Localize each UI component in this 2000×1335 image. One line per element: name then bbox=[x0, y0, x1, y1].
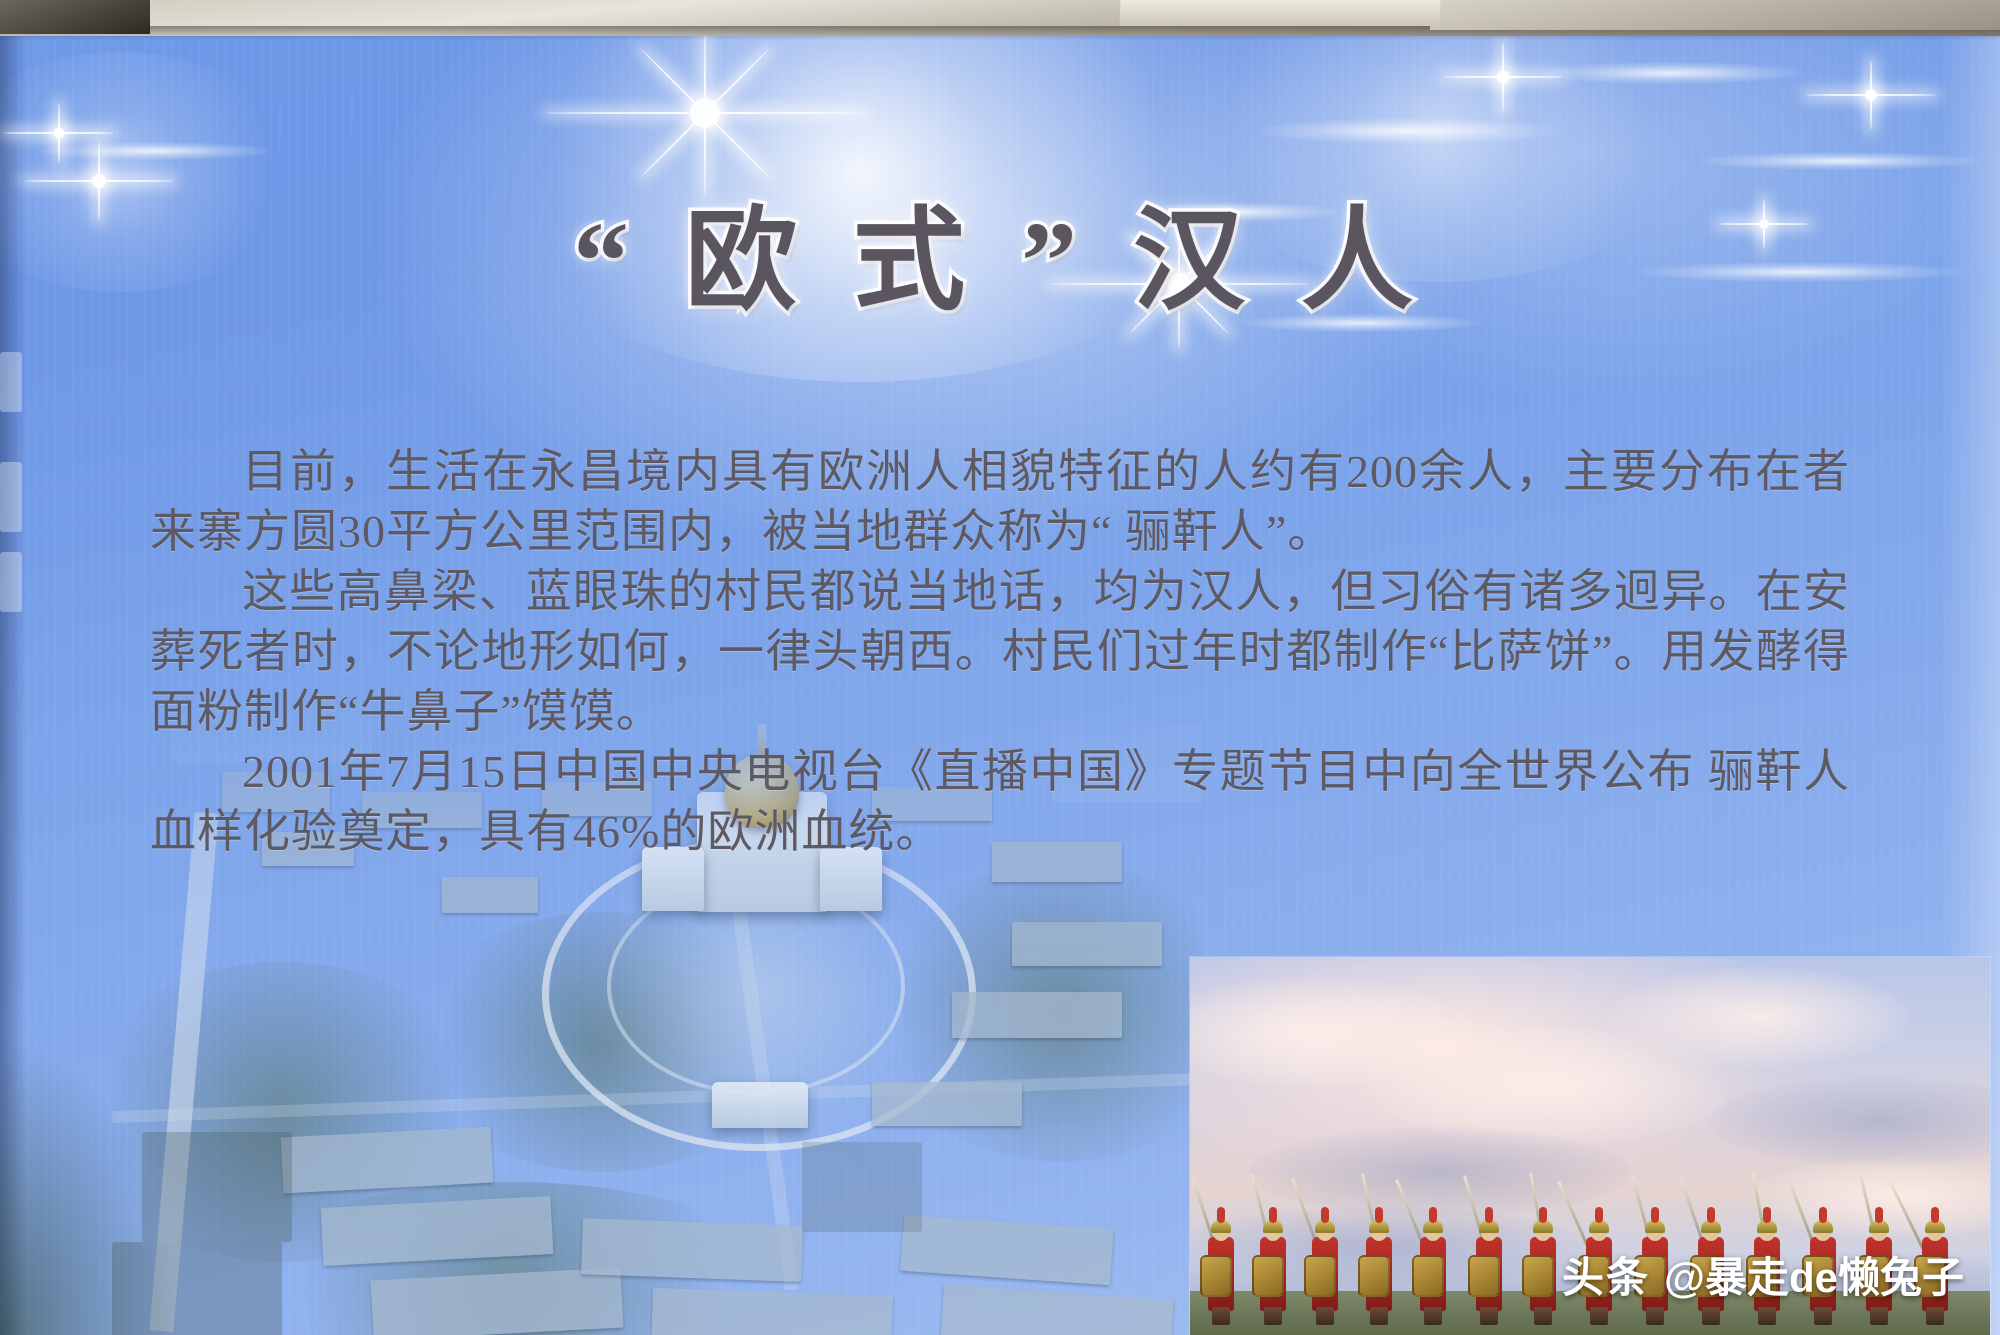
sparkle-upper-right bbox=[1500, 74, 1505, 79]
soldier-crest bbox=[1707, 1207, 1715, 1223]
soldier-crest bbox=[1269, 1207, 1277, 1223]
cloud-3 bbox=[1610, 967, 1910, 1067]
watermark: 头条 @暴走de懒兔子 bbox=[1562, 1244, 1964, 1305]
soldier-legs bbox=[1702, 1307, 1720, 1325]
sign-title: “ 欧 式 ” 汉 人 bbox=[0, 170, 2000, 332]
soldier-legs bbox=[1212, 1307, 1230, 1325]
aerial-building-10 bbox=[872, 1082, 1022, 1126]
soldier-legs bbox=[1370, 1307, 1388, 1325]
sign-paragraph-2: 这些高鼻梁、蓝眼珠的村民都说当地话，均为汉人，但习俗有诸多迥异。在安葬死者时，不… bbox=[150, 562, 1850, 742]
light-streak-1 bbox=[1260, 118, 1560, 144]
watermark-handle: @暴走de懒兔子 bbox=[1664, 1244, 1964, 1305]
sign-title-text: “ 欧 式 ” 汉 人 bbox=[573, 170, 1427, 332]
left-edge-mark-2 bbox=[0, 462, 22, 532]
soldier-shield bbox=[1522, 1255, 1554, 1297]
soldier-crest bbox=[1763, 1207, 1771, 1223]
signboard-photo: “ 欧 式 ” 汉 人 目前，生活在永昌境内具有欧洲人相貌特征的人约有200余人… bbox=[0, 0, 2000, 1335]
ceiling-strip-notch bbox=[1120, 0, 1441, 26]
light-streak-4 bbox=[1700, 152, 1980, 170]
soldier-crest bbox=[1375, 1207, 1383, 1223]
left-edge-mark-1 bbox=[0, 352, 22, 412]
aerial-row-house-4 bbox=[581, 1218, 803, 1282]
soldier-crest bbox=[1875, 1207, 1883, 1223]
soldier-crest bbox=[1819, 1207, 1827, 1223]
sparkle-main bbox=[700, 108, 710, 118]
aerial-building-4 bbox=[442, 877, 538, 913]
aerial-building-8 bbox=[1012, 922, 1162, 966]
cloud-5-dark bbox=[1250, 1127, 1630, 1217]
aerial-plaza-pavilion bbox=[712, 1082, 808, 1128]
soldier-shield bbox=[1358, 1255, 1390, 1297]
ceiling-strip-right bbox=[1430, 0, 2000, 30]
soldier-shield bbox=[1200, 1255, 1232, 1297]
aerial-row-house-1 bbox=[281, 1127, 494, 1194]
left-edge-mark-3 bbox=[0, 552, 22, 612]
soldier-shield bbox=[1468, 1255, 1500, 1297]
soldier-shield bbox=[1252, 1255, 1284, 1297]
light-streak-2 bbox=[1540, 62, 1800, 84]
aerial-row-house-2 bbox=[321, 1196, 554, 1266]
bottom-left-foliage bbox=[0, 1035, 180, 1335]
soldier-crest bbox=[1539, 1207, 1547, 1223]
soldier-crest bbox=[1429, 1207, 1437, 1223]
sign-body: 目前，生活在永昌境内具有欧洲人相貌特征的人约有200余人，主要分布在者来寨方圆3… bbox=[150, 442, 1850, 862]
soldier-shield bbox=[1304, 1255, 1336, 1297]
soldier-legs bbox=[1590, 1307, 1608, 1325]
soldier-crest bbox=[1217, 1207, 1225, 1223]
aerial-row-house-3 bbox=[371, 1267, 624, 1335]
soldier-legs bbox=[1534, 1307, 1552, 1325]
aerial-dark-grove-3 bbox=[802, 1142, 922, 1232]
soldier-legs bbox=[1316, 1307, 1334, 1325]
sparkle-far-right bbox=[1868, 92, 1873, 97]
soldier-legs bbox=[1424, 1307, 1442, 1325]
light-streak-5 bbox=[40, 142, 270, 160]
soldier-crest bbox=[1595, 1207, 1603, 1223]
soldier-legs bbox=[1264, 1307, 1282, 1325]
soldier-legs bbox=[1646, 1307, 1664, 1325]
soldier-crest bbox=[1485, 1207, 1493, 1223]
sign-paragraph-3: 2001年7月15日中国中央电视台《直播中国》专题节目中向全世界公布 骊靬人血样… bbox=[150, 742, 1850, 862]
ceiling-strip-dark-left bbox=[0, 0, 150, 34]
sparkle-top-left bbox=[56, 130, 61, 135]
aerial-row-house-5 bbox=[651, 1288, 893, 1335]
watermark-logo: 头条 bbox=[1562, 1244, 1650, 1305]
soldier-crest bbox=[1651, 1207, 1659, 1223]
soldier-legs bbox=[1814, 1307, 1832, 1325]
soldier-crest bbox=[1931, 1207, 1939, 1223]
aerial-building-9 bbox=[952, 992, 1122, 1038]
soldier-shield bbox=[1412, 1255, 1444, 1297]
sign-paragraph-1: 目前，生活在永昌境内具有欧洲人相貌特征的人约有200余人，主要分布在者来寨方圆3… bbox=[150, 442, 1850, 562]
soldier-legs bbox=[1926, 1307, 1944, 1325]
soldier-crest bbox=[1321, 1207, 1329, 1223]
soldier-legs bbox=[1480, 1307, 1498, 1325]
soldier-legs bbox=[1870, 1307, 1888, 1325]
blue-signboard: “ 欧 式 ” 汉 人 目前，生活在永昌境内具有欧洲人相貌特征的人约有200余人… bbox=[0, 22, 2000, 1335]
soldier-legs bbox=[1758, 1307, 1776, 1325]
